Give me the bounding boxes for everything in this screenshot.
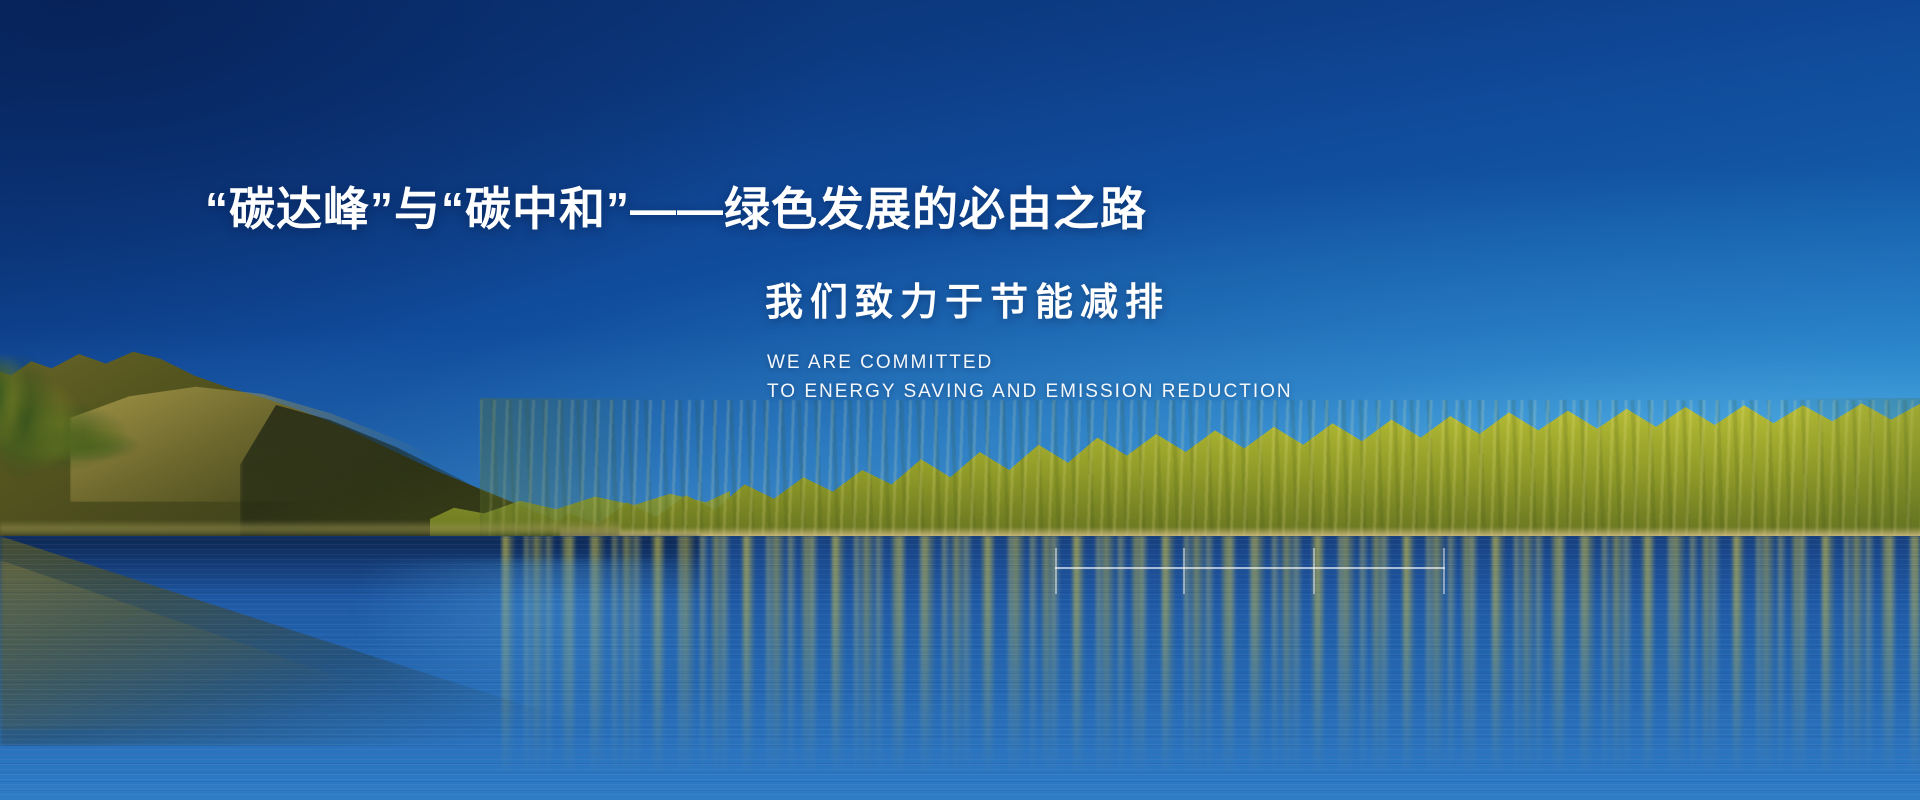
banner-subheading: 我们致力于节能减排 (765, 280, 1170, 328)
banner-headline: “碳达峰”与“碳中和”——绿色发展的必由之路 (205, 182, 1147, 237)
english-line-2: TO ENERGY SAVING AND EMISSION REDUCTION (767, 377, 1293, 406)
english-line-1: WE ARE COMMITTED (767, 348, 1293, 377)
banner-copy: “碳达峰”与“碳中和”——绿色发展的必由之路 我们致力于节能减排 WE ARE … (0, 0, 1920, 800)
hero-banner: “碳达峰”与“碳中和”——绿色发展的必由之路 我们致力于节能减排 WE ARE … (0, 0, 1920, 800)
banner-english-tagline: WE ARE COMMITTED TO ENERGY SAVING AND EM… (767, 348, 1293, 407)
